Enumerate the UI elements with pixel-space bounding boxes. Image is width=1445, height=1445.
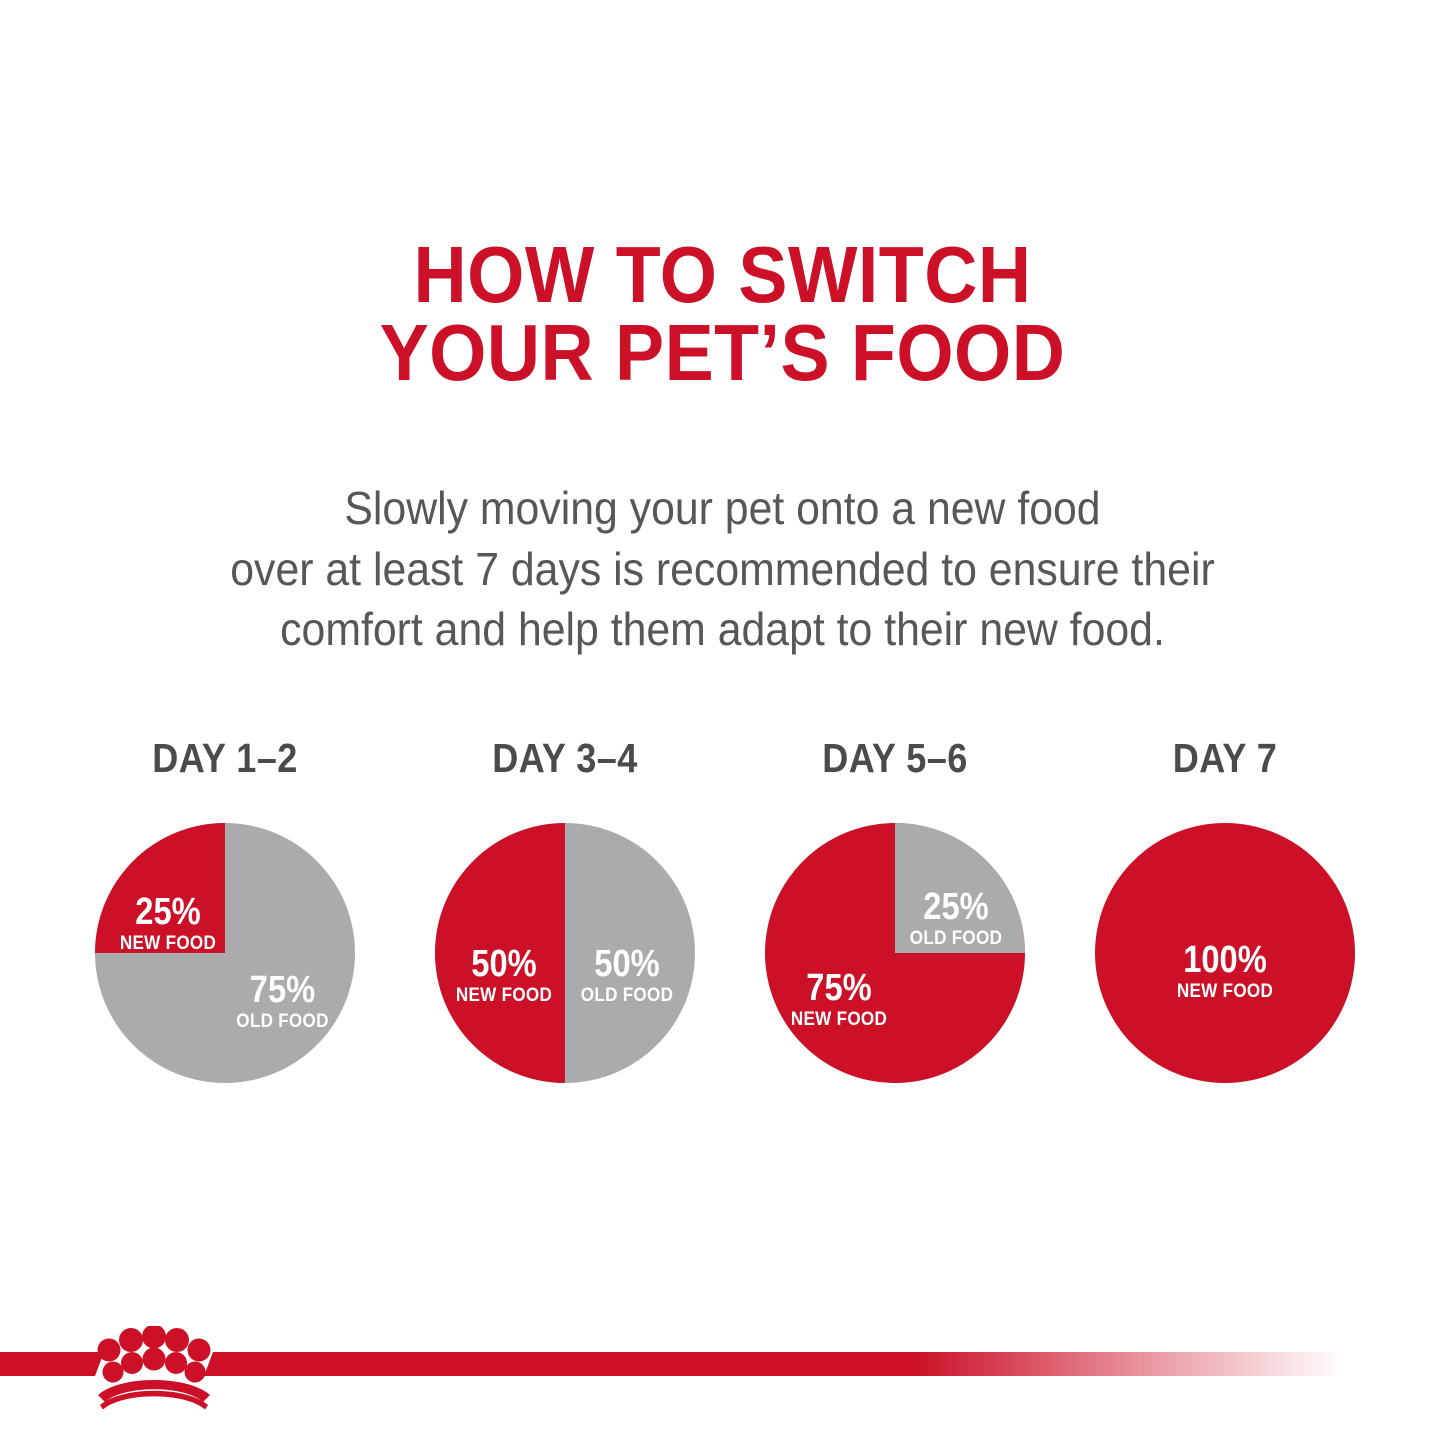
pie-chart-day-5-6-svg: [765, 823, 1025, 1083]
footer-rule-right: [213, 1352, 1345, 1376]
pie-slice-new-food: [95, 823, 225, 953]
page-subtitle-line-3: comfort and help them adapt to their new…: [51, 599, 1395, 660]
page-title-line-2: YOUR PET’S FOOD: [58, 314, 1387, 392]
step-day-3-4: DAY 3–4 50% NEW FOOD 50% OLD FOOD: [430, 735, 700, 1115]
page-title: HOW TO SWITCH YOUR PET’S FOOD: [58, 236, 1387, 393]
footer-brand-bar: [0, 1325, 1445, 1445]
royal-canin-crown-icon-svg: [88, 1326, 220, 1410]
royal-canin-crown-icon: [88, 1326, 220, 1410]
footer-rule-left: [0, 1352, 95, 1376]
pie-chart-day-7: 100% NEW FOOD: [1095, 823, 1355, 1083]
pie-chart-day-5-6: 25% OLD FOOD 75% NEW FOOD: [765, 823, 1025, 1083]
pie-chart-day-1-2: 25% NEW FOOD 75% OLD FOOD: [95, 823, 355, 1083]
step-day-5-6: DAY 5–6 25% OLD FOOD 75% NEW FOOD: [760, 735, 1030, 1115]
food-transition-steps: DAY 1–2 25% NEW FOOD 75% OLD FOOD DAY 3–…: [0, 735, 1445, 1115]
step-day-7: DAY 7 100% NEW FOOD: [1090, 735, 1360, 1115]
step-title-day-1-2: DAY 1–2: [106, 735, 344, 782]
step-title-day-5-6: DAY 5–6: [776, 735, 1014, 782]
pie-chart-day-1-2-svg: [95, 823, 355, 1083]
page-subtitle-line-1: Slowly moving your pet onto a new food: [51, 478, 1395, 539]
pie-slice-old-food: [895, 823, 1025, 953]
pie-chart-day-3-4: 50% NEW FOOD 50% OLD FOOD: [435, 823, 695, 1083]
step-day-1-2: DAY 1–2 25% NEW FOOD 75% OLD FOOD: [90, 735, 360, 1115]
page-subtitle-line-2: over at least 7 days is recommended to e…: [51, 539, 1395, 600]
step-title-day-7: DAY 7: [1106, 735, 1344, 782]
infographic-page: HOW TO SWITCH YOUR PET’S FOOD Slowly mov…: [0, 0, 1445, 1445]
pie-slice-new-food: [1095, 823, 1355, 1083]
pie-chart-day-7-svg: [1095, 823, 1355, 1083]
step-title-day-3-4: DAY 3–4: [446, 735, 684, 782]
pie-slice-new-food: [435, 823, 565, 1083]
pie-chart-day-3-4-svg: [435, 823, 695, 1083]
page-title-line-1: HOW TO SWITCH: [58, 236, 1387, 314]
page-subtitle: Slowly moving your pet onto a new food o…: [51, 478, 1395, 660]
